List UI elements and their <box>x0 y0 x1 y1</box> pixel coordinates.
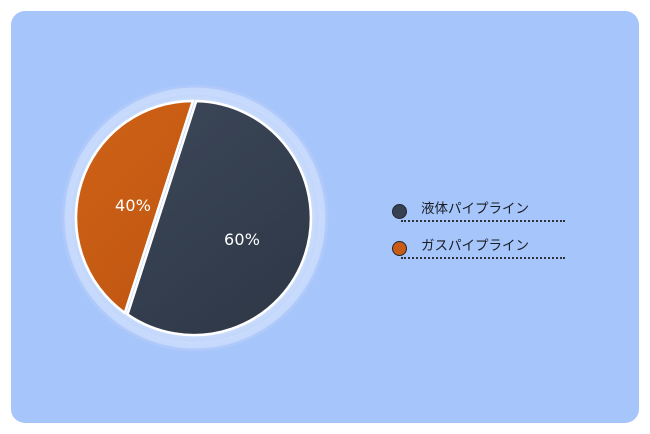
legend-item-gas[interactable]: ガスパイプライン <box>392 235 572 272</box>
chart-legend: 液体パイプライン ガスパイプライン <box>392 198 572 272</box>
legend-leader-line-liquid <box>401 220 565 222</box>
legend-label-liquid: 液体パイプライン <box>421 200 529 219</box>
pie-slice-value-gas: 40% <box>115 198 151 214</box>
legend-swatch-liquid-icon <box>392 204 407 219</box>
legend-item-liquid[interactable]: 液体パイプライン <box>392 198 572 235</box>
pie-slice-value-liquid: 60% <box>224 232 260 248</box>
legend-leader-line-gas <box>401 257 565 259</box>
chart-screenshot-root: 60% 40% 液体パイプライン ガスパイプライン <box>0 0 650 434</box>
legend-swatch-gas-icon <box>392 241 407 256</box>
legend-label-gas: ガスパイプライン <box>421 237 529 256</box>
